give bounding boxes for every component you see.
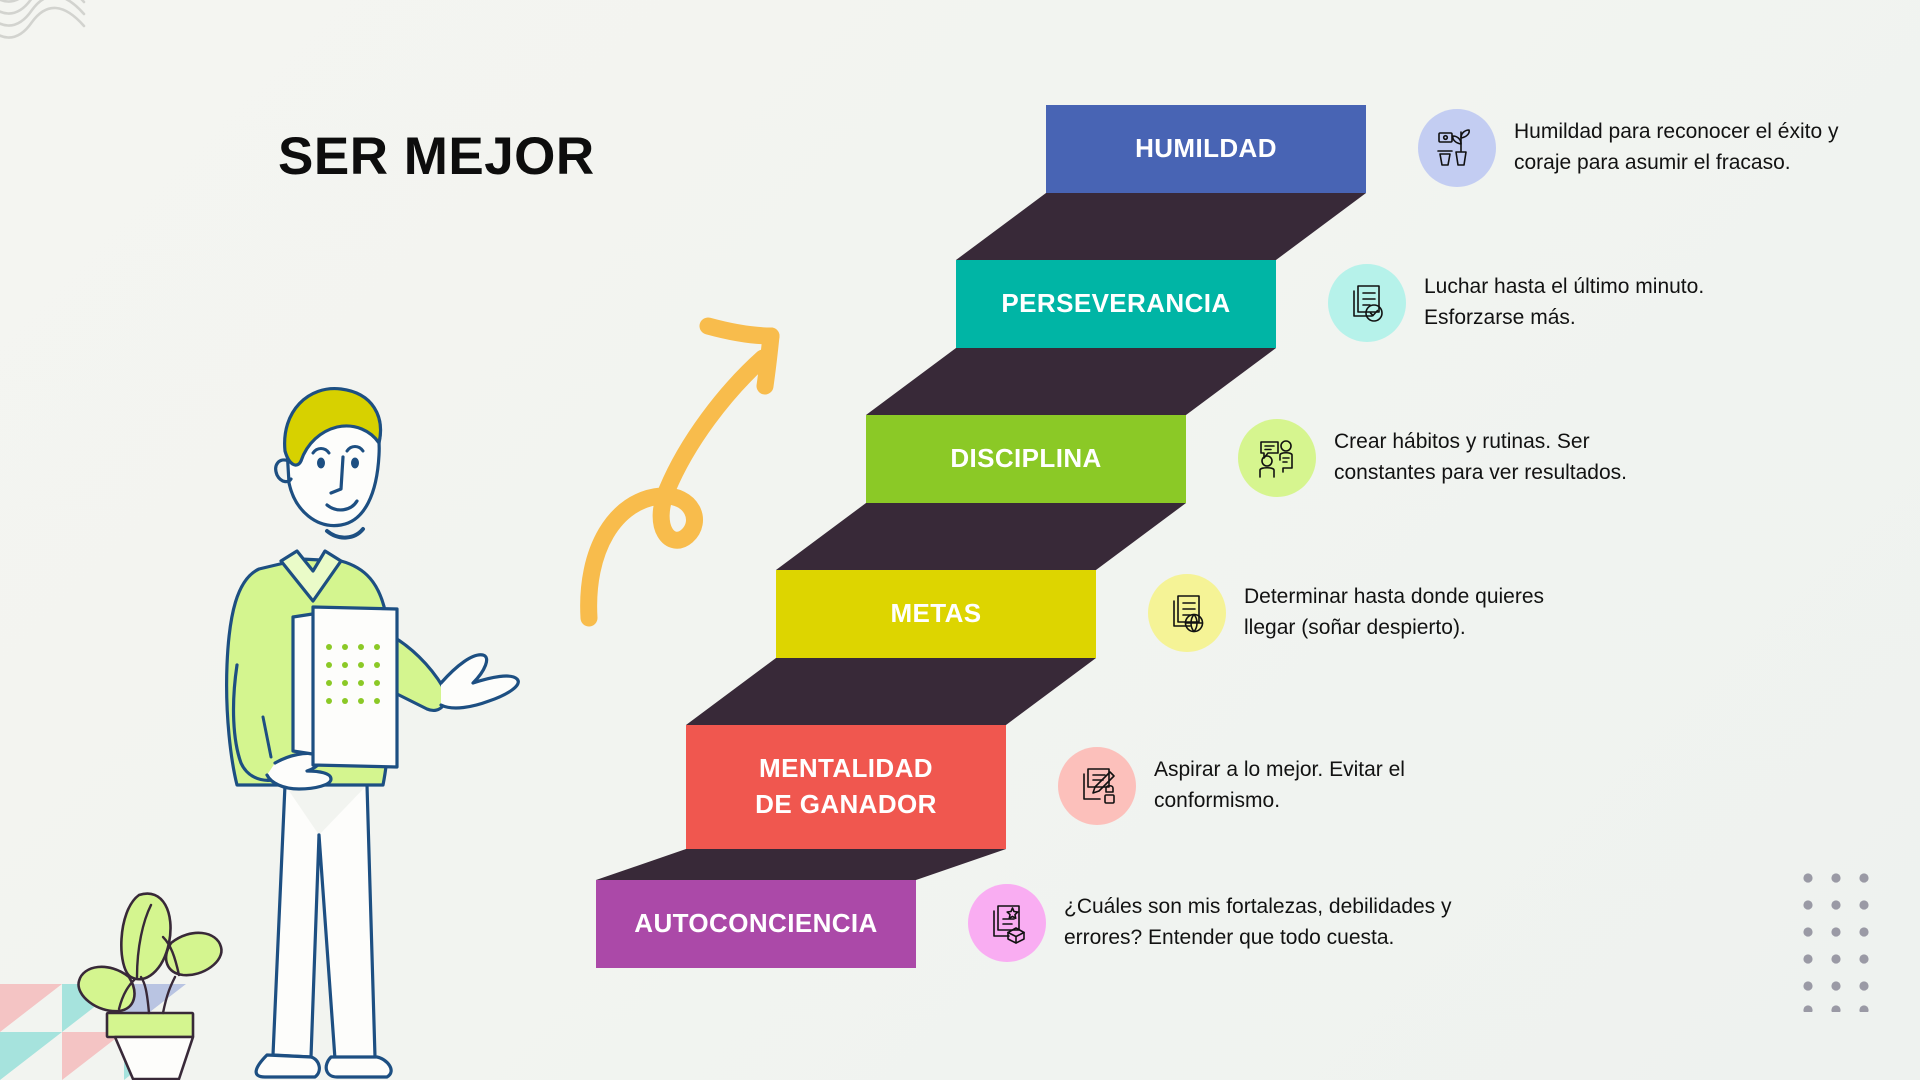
step-description: Determinar hasta donde quieres llegar (s… bbox=[1244, 582, 1544, 643]
step-info-row: ¿Cuáles son mis fortalezas, debilidades … bbox=[968, 884, 1452, 962]
step-bar-autoconciencia[interactable]: AUTOCONCIENCIA bbox=[596, 880, 916, 968]
step-description: Crear hábitos y rutinas. Ser constantes … bbox=[1334, 427, 1627, 488]
person-illustration bbox=[215, 365, 545, 1080]
step-bar-mentalidad-de-ganador[interactable]: MENTALIDAD DE GANADOR bbox=[686, 725, 1006, 849]
step-description: Luchar hasta el último minuto. Esforzars… bbox=[1424, 272, 1704, 333]
step-label: AUTOCONCIENCIA bbox=[596, 906, 916, 942]
document-star-box-icon bbox=[968, 884, 1046, 962]
step-description: Humildad para reconocer el éxito y coraj… bbox=[1514, 117, 1839, 178]
plant-illustration bbox=[75, 865, 225, 1080]
step-info-row: Determinar hasta donde quieres llegar (s… bbox=[1148, 574, 1544, 652]
step-info-row: Crear hábitos y rutinas. Ser constantes … bbox=[1238, 419, 1627, 497]
plant-growth-icon bbox=[1418, 109, 1496, 187]
document-globe-icon bbox=[1148, 574, 1226, 652]
step-description: ¿Cuáles son mis fortalezas, debilidades … bbox=[1064, 892, 1452, 953]
document-pencil-icon bbox=[1058, 747, 1136, 825]
step-label: MENTALIDAD DE GANADOR bbox=[686, 751, 1006, 823]
step-info-row: Luchar hasta el último minuto. Esforzars… bbox=[1328, 264, 1704, 342]
people-conversation-icon bbox=[1238, 419, 1316, 497]
slide-canvas: SER MEJOR HUMILDADPERSEVERANCIADISCIPLIN… bbox=[0, 0, 1920, 1080]
step-info-row: Aspirar a lo mejor. Evitar el conformism… bbox=[1058, 747, 1405, 825]
step-description: Aspirar a lo mejor. Evitar el conformism… bbox=[1154, 755, 1405, 816]
step-info-row: Humildad para reconocer el éxito y coraj… bbox=[1418, 109, 1839, 187]
document-check-icon bbox=[1328, 264, 1406, 342]
